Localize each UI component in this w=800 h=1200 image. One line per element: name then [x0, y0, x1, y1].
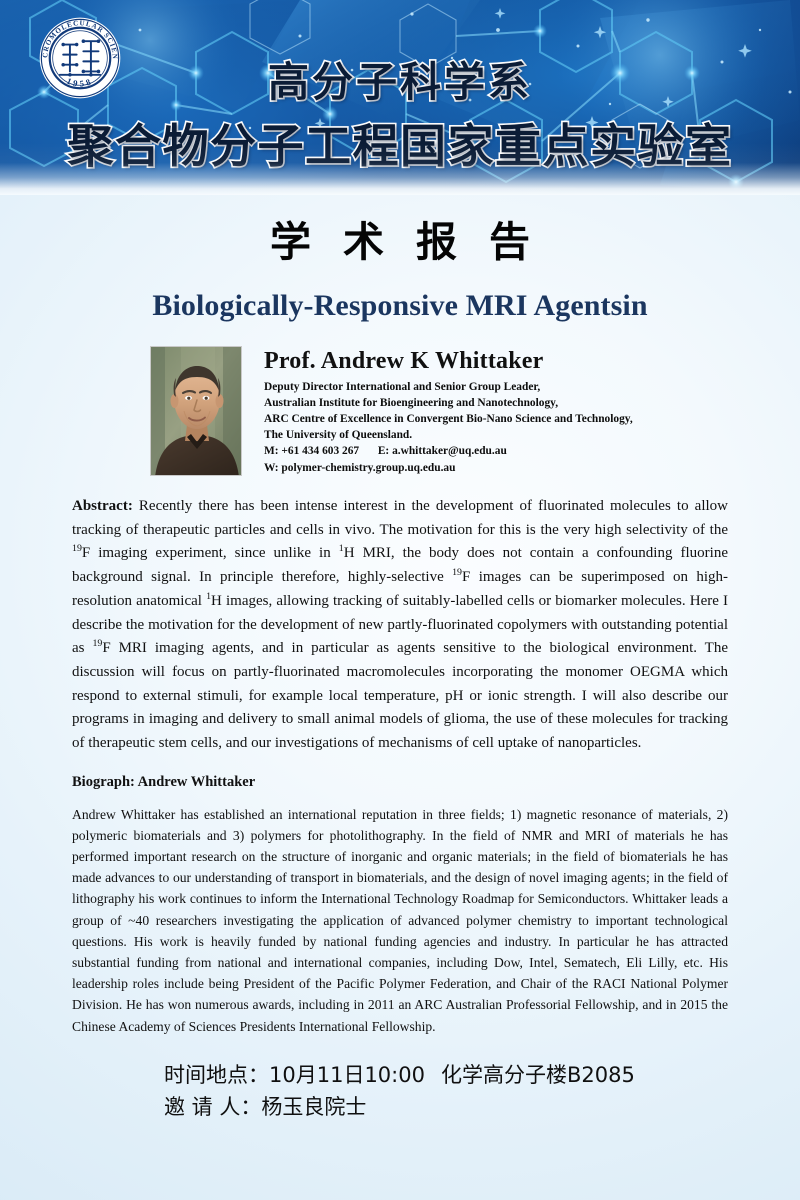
time-place-value: 10月11日10:00	[269, 1063, 425, 1087]
email-label: E:	[378, 445, 389, 457]
abstract-sup-1: 19	[72, 543, 82, 554]
web-label: W:	[264, 462, 279, 474]
abstract-part-1: Recently there has been intense interest…	[72, 498, 728, 538]
footer-time-place-line: 时间地点：10月11日10:00化学高分子楼B2085	[164, 1059, 728, 1092]
speaker-portrait	[150, 346, 242, 476]
event-details-footer: 时间地点：10月11日10:00化学高分子楼B2085 邀 请 人：杨玉良院士	[72, 1059, 728, 1124]
lecture-heading-cn: 学术报告	[72, 220, 728, 265]
mobile-label: M:	[264, 445, 279, 457]
contact-phone-email: M: +61 434 603 267 E: a.whittaker@uq.edu…	[264, 443, 633, 459]
dept-name-cn: 高分子科学系	[0, 48, 800, 108]
affiliation-line-4: The University of Queensland.	[264, 427, 633, 443]
biography-heading: Biograph: Andrew Whittaker	[72, 774, 728, 791]
speaker-name: Prof. Andrew K Whittaker	[264, 348, 633, 376]
abstract-label: Abstract:	[72, 498, 133, 514]
affiliation-line-3: ARC Centre of Excellence in Convergent B…	[264, 411, 633, 427]
abstract-sup-3: 19	[452, 567, 462, 578]
seminar-poster: MACROMOLECULAR SCIENCE 1958 高分子科学系 聚合物分子…	[0, 0, 800, 1200]
venue-value: 化学高分子楼B2085	[441, 1063, 635, 1087]
poster-content: 学术报告 Biologically-Responsive MRI Agentsi…	[0, 220, 800, 1124]
contact-web: W: polymer-chemistry.group.uq.edu.au	[264, 460, 633, 476]
abstract-paragraph: Abstract: Recently there has been intens…	[72, 495, 728, 756]
affiliation-line-1: Deputy Director International and Senior…	[264, 379, 633, 395]
talk-title: Biologically-Responsive MRI Agentsin	[72, 289, 728, 322]
host-value: 杨玉良院士	[261, 1095, 366, 1119]
abstract-part-6: F MRI imaging agents, and in particular …	[72, 640, 728, 751]
host-label: 邀 请 人：	[164, 1095, 261, 1119]
footer-host-line: 邀 请 人：杨玉良院士	[164, 1091, 728, 1124]
biography-paragraph: Andrew Whittaker has established an inte…	[72, 804, 728, 1037]
time-place-label: 时间地点：	[164, 1063, 269, 1087]
email-value[interactable]: a.whittaker@uq.edu.au	[392, 445, 507, 457]
speaker-details: Prof. Andrew K Whittaker Deputy Director…	[264, 346, 633, 476]
mobile-value: +61 434 603 267	[281, 445, 359, 457]
speaker-block: Prof. Andrew K Whittaker Deputy Director…	[72, 346, 728, 476]
affiliation-line-2: Australian Institute for Bioengineering …	[264, 395, 633, 411]
speaker-affiliation: Deputy Director International and Senior…	[264, 379, 633, 476]
poster-header-banner: MACROMOLECULAR SCIENCE 1958 高分子科学系 聚合物分子…	[0, 0, 800, 195]
web-value[interactable]: polymer-chemistry.group.uq.edu.au	[281, 462, 455, 474]
lab-name-cn: 聚合物分子工程国家重点实验室	[0, 110, 800, 176]
abstract-part-2: F imaging experiment, since unlike in	[82, 545, 339, 561]
abstract-sup-5: 19	[92, 638, 102, 649]
